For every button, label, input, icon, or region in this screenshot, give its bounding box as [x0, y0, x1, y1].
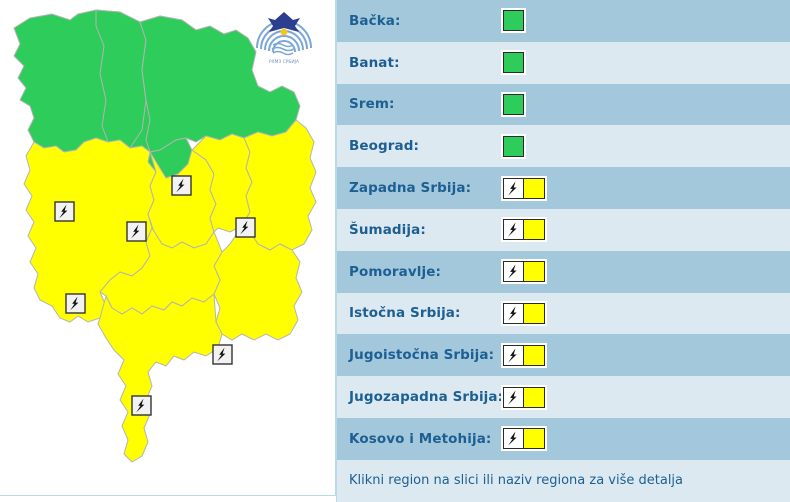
storm-marker-sumadija	[127, 222, 146, 241]
yellow-level-swatch	[524, 261, 545, 282]
thunderstorm-icon	[503, 387, 524, 408]
storm-marker-zapadna	[55, 202, 74, 221]
green-level-swatch	[503, 136, 524, 157]
level-swatch-green	[501, 8, 526, 33]
region-badge-srem[interactable]	[501, 92, 526, 117]
yellow-level-swatch	[524, 303, 545, 324]
level-swatch-pair	[501, 343, 547, 368]
storm-marker-istocna	[236, 218, 255, 237]
map-region-backa[interactable]	[96, 10, 146, 148]
thunderstorm-icon	[503, 345, 524, 366]
region-badge-sumadija[interactable]	[501, 217, 547, 242]
region-label-srem[interactable]: Srem:	[349, 96, 489, 112]
level-swatch-green	[501, 92, 526, 117]
meteoalarm-page: РХМЗ СРБИЈА Bačka: Banat: Srem:	[0, 0, 790, 502]
region-row-pomoravlje[interactable]: Pomoravlje:	[337, 251, 790, 293]
region-row-kosovo-i-metohija[interactable]: Kosovo i Metohija:	[337, 418, 790, 460]
region-row-sumadija[interactable]: Šumadija:	[337, 209, 790, 251]
region-row-backa[interactable]: Bačka:	[337, 0, 790, 42]
region-row-jugoistocna-srbija[interactable]: Jugoistočna Srbija:	[337, 334, 790, 376]
logo-sun-icon	[281, 29, 288, 36]
thunderstorm-icon	[503, 261, 524, 282]
thunderstorm-icon	[503, 219, 524, 240]
region-label-sumadija[interactable]: Šumadija:	[349, 222, 489, 238]
region-row-banat[interactable]: Banat:	[337, 42, 790, 84]
yellow-level-swatch	[524, 428, 545, 449]
level-swatch-green	[501, 134, 526, 159]
storm-marker-jugoistocna	[213, 345, 232, 364]
region-badge-banat[interactable]	[501, 50, 526, 75]
map-region-kosovo-i-metohija[interactable]	[98, 294, 222, 462]
yellow-level-swatch	[524, 345, 545, 366]
green-level-swatch	[503, 52, 524, 73]
region-warning-list: Bačka: Banat: Srem:	[336, 0, 790, 502]
region-row-beograd[interactable]: Beograd:	[337, 125, 790, 167]
level-swatch-pair	[501, 176, 547, 201]
thunderstorm-icon	[503, 178, 524, 199]
level-swatch-green	[501, 50, 526, 75]
level-swatch-pair	[501, 301, 547, 326]
region-label-jugozapadna-srbija[interactable]: Jugozapadna Srbija:	[349, 389, 489, 405]
region-badge-istocna-srbija[interactable]	[501, 301, 547, 326]
region-row-srem[interactable]: Srem:	[337, 84, 790, 126]
green-level-swatch	[503, 10, 524, 31]
region-badge-zapadna-srbija[interactable]	[501, 176, 547, 201]
region-row-istocna-srbija[interactable]: Istočna Srbija:	[337, 293, 790, 335]
region-badge-beograd[interactable]	[501, 134, 526, 159]
region-label-kosovo-i-metohija[interactable]: Kosovo i Metohija:	[349, 431, 489, 447]
footer-hint-text: Klikni region na slici ili naziv regiona…	[337, 460, 790, 502]
level-swatch-pair	[501, 217, 547, 242]
region-badge-backa[interactable]	[501, 8, 526, 33]
region-label-backa[interactable]: Bačka:	[349, 13, 489, 29]
level-swatch-pair	[501, 426, 547, 451]
region-label-istocna-srbija[interactable]: Istočna Srbija:	[349, 305, 489, 321]
thunderstorm-icon	[503, 303, 524, 324]
yellow-level-swatch	[524, 387, 545, 408]
region-row-jugozapadna-srbija[interactable]: Jugozapadna Srbija:	[337, 376, 790, 418]
region-row-zapadna-srbija[interactable]: Zapadna Srbija:	[337, 167, 790, 209]
logo-caption: РХМЗ СРБИЈА	[269, 59, 299, 65]
region-label-beograd[interactable]: Beograd:	[349, 138, 489, 154]
level-swatch-pair	[501, 259, 547, 284]
region-label-pomoravlje[interactable]: Pomoravlje:	[349, 264, 489, 280]
map-panel[interactable]: РХМЗ СРБИЈА	[0, 0, 336, 496]
storm-marker-kosovo	[132, 396, 151, 415]
region-badge-jugoistocna-srbija[interactable]	[501, 343, 547, 368]
region-badge-jugozapadna-srbija[interactable]	[501, 385, 547, 410]
rhmz-logo: РХМЗ СРБИЈА	[253, 4, 315, 66]
serbia-region-map[interactable]	[0, 0, 336, 496]
yellow-level-swatch	[524, 219, 545, 240]
yellow-level-swatch	[524, 178, 545, 199]
region-label-jugoistocna-srbija[interactable]: Jugoistočna Srbija:	[349, 347, 489, 363]
level-swatch-pair	[501, 385, 547, 410]
region-label-banat[interactable]: Banat:	[349, 55, 489, 71]
region-label-zapadna-srbija[interactable]: Zapadna Srbija:	[349, 180, 489, 196]
thunderstorm-icon	[503, 428, 524, 449]
storm-marker-jugozapadna	[66, 294, 85, 313]
region-badge-pomoravlje[interactable]	[501, 259, 547, 284]
green-level-swatch	[503, 94, 524, 115]
storm-marker-pomoravlje	[172, 176, 191, 195]
region-badge-kosovo-i-metohija[interactable]	[501, 426, 547, 451]
